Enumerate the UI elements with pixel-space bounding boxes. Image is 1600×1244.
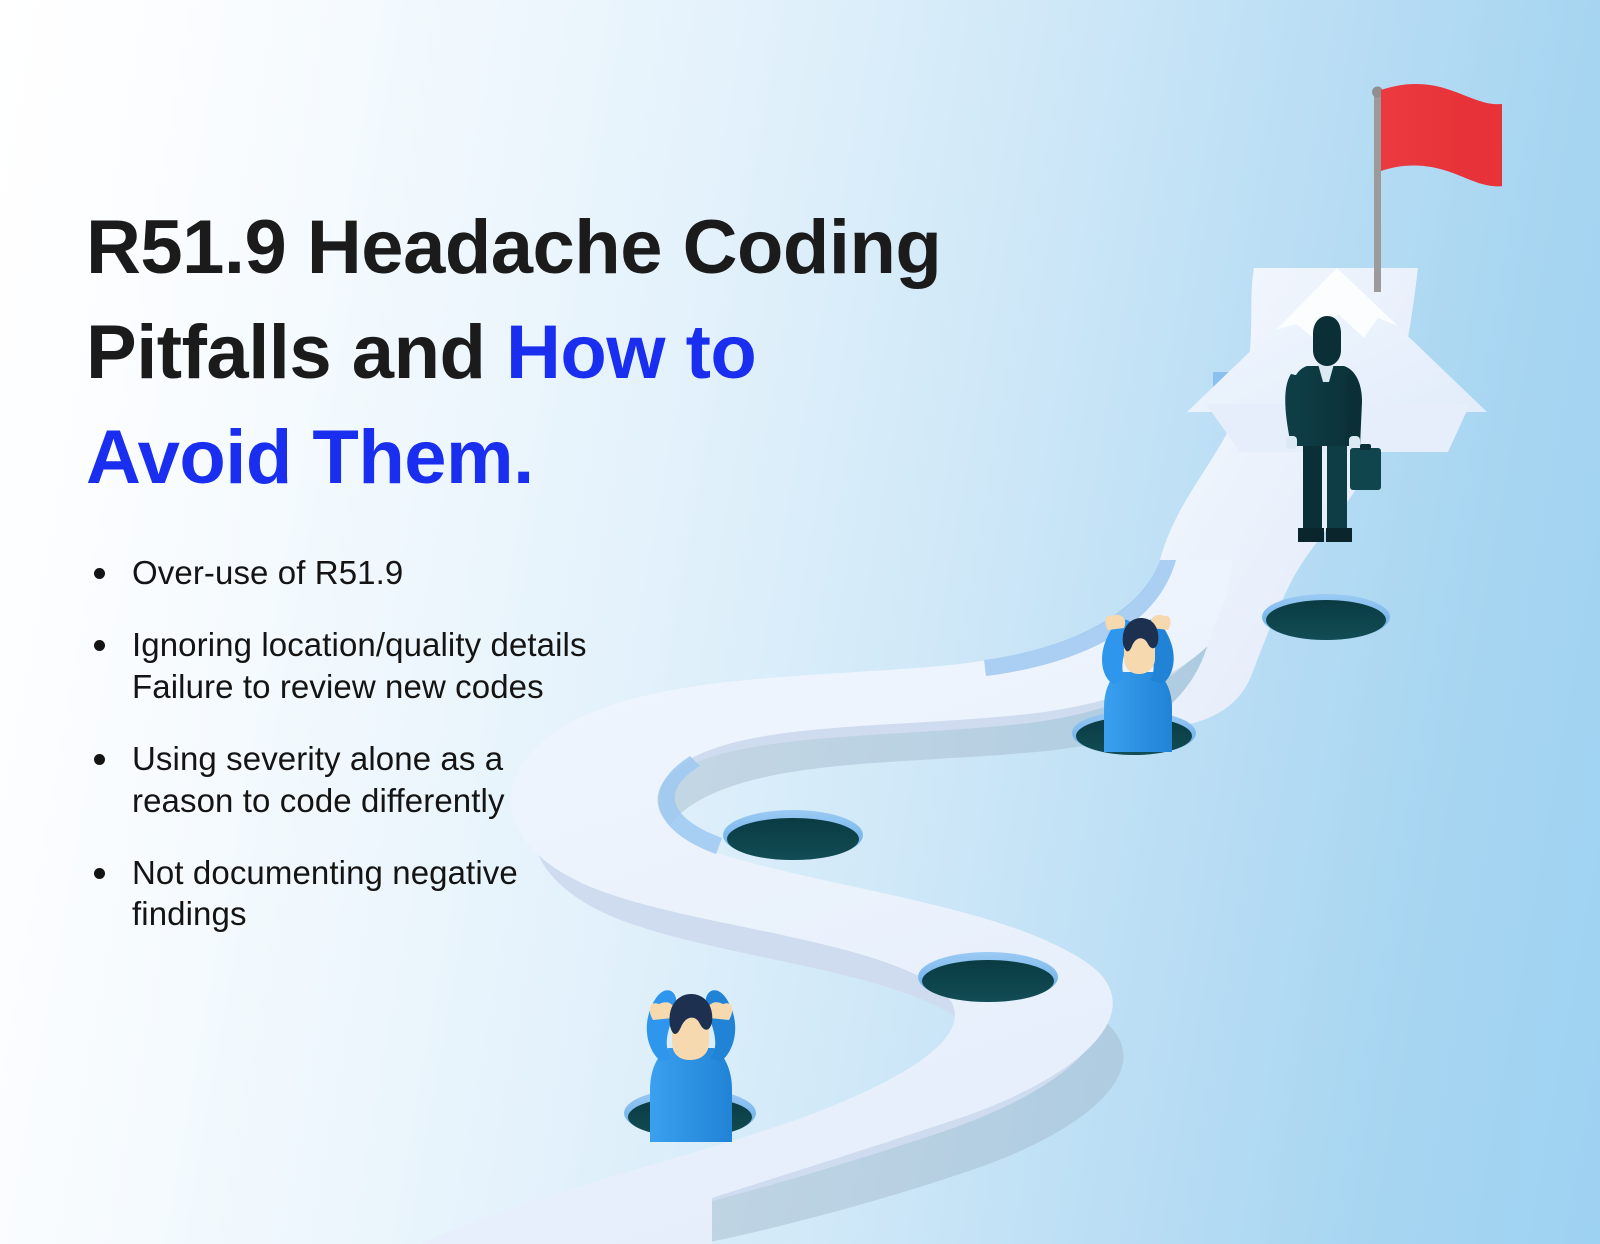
pitfall-hole-4 — [918, 952, 1058, 1002]
person-stuck-in-hole — [1102, 615, 1174, 752]
list-item-line: Ignoring location/quality details — [132, 624, 728, 666]
heading-block: R51.9 Headache CodingPitfalls and How to… — [86, 196, 1046, 511]
infographic-canvas: R51.9 Headache CodingPitfalls and How to… — [0, 0, 1600, 1244]
bullet-dot-icon — [94, 868, 105, 879]
list-item-line: findings — [132, 893, 728, 935]
list-item: Using severity alone as a reason to code… — [88, 738, 728, 822]
title-line-2-dark: Pitfalls and — [86, 310, 506, 395]
list-item: Ignoring location/quality details Failur… — [88, 624, 728, 708]
page-title: R51.9 Headache CodingPitfalls and How to… — [86, 196, 1046, 511]
list-item-line: Failure to review new codes — [132, 666, 728, 708]
list-item-line: Using severity alone as a — [132, 738, 728, 780]
pitfall-hole-3 — [723, 810, 863, 860]
title-line-1: R51.9 Headache Coding — [86, 205, 941, 290]
person-stuck-in-hole — [647, 990, 735, 1142]
bullet-dot-icon — [94, 754, 105, 765]
list-item-line: Not documenting negative — [132, 852, 728, 894]
list-item-line: Over-use of R51.9 — [132, 552, 728, 594]
list-item: Not documenting negative findings — [88, 852, 728, 936]
title-line-3-accent: Avoid Them. — [86, 415, 534, 500]
title-line-2-accent: How to — [506, 310, 756, 395]
pitfall-hole-1 — [1262, 594, 1390, 640]
list-item-line: reason to code differently — [132, 780, 728, 822]
bullet-dot-icon — [94, 640, 105, 651]
bullet-dot-icon — [94, 568, 105, 579]
list-item: Over-use of R51.9 — [88, 552, 728, 594]
pitfalls-list: Over-use of R51.9 Ignoring location/qual… — [88, 552, 728, 935]
red-flag — [1372, 84, 1502, 292]
